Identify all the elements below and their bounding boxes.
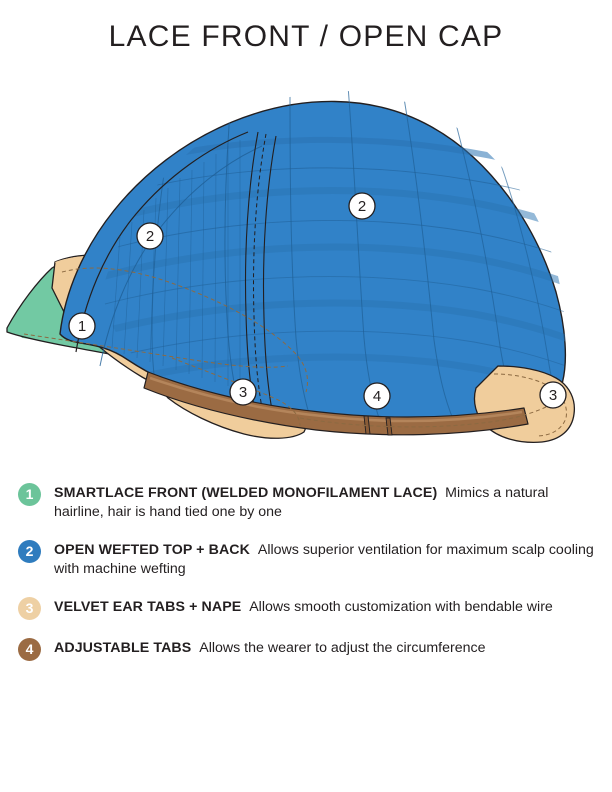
legend-item-1: 1 SMARTLACE FRONT (WELDED MONOFILAMENT L…	[18, 482, 596, 522]
marker-2a-label: 2	[146, 228, 154, 245]
legend-text-2: OPEN WEFTED TOP + BACK Allows superior v…	[54, 539, 596, 579]
legend-text-4: ADJUSTABLE TABS Allows the wearer to adj…	[54, 637, 596, 658]
legend: 1 SMARTLACE FRONT (WELDED MONOFILAMENT L…	[18, 482, 596, 678]
legend-item-2: 2 OPEN WEFTED TOP + BACK Allows superior…	[18, 539, 596, 579]
legend-badge-3: 3	[18, 597, 41, 620]
marker-1-label: 1	[78, 318, 86, 335]
page-root: LACE FRONT / OPEN CAP	[0, 0, 612, 792]
legend-term-3: VELVET EAR TABS + NAPE	[54, 599, 241, 615]
legend-term-2: OPEN WEFTED TOP + BACK	[54, 542, 250, 558]
legend-term-4: ADJUSTABLE TABS	[54, 640, 191, 656]
marker-3a-label: 3	[239, 384, 247, 401]
wig-cap-diagram: 1 2 2 3 3 4	[0, 66, 612, 446]
diagram-marker-2-top: 2	[137, 223, 163, 249]
legend-description-3: Allows smooth customization with bendabl…	[249, 599, 553, 615]
legend-badge-1: 1	[18, 483, 41, 506]
legend-badge-2: 2	[18, 540, 41, 563]
legend-item-3: 3 VELVET EAR TABS + NAPE Allows smooth c…	[18, 596, 596, 620]
legend-term-1: SMARTLACE FRONT (WELDED MONOFILAMENT LAC…	[54, 485, 437, 501]
legend-description-4: Allows the wearer to adjust the circumfe…	[199, 640, 485, 656]
legend-text-3: VELVET EAR TABS + NAPE Allows smooth cus…	[54, 596, 596, 617]
marker-2b-label: 2	[358, 198, 366, 215]
diagram-marker-2-back: 2	[349, 193, 375, 219]
legend-badge-4: 4	[18, 638, 41, 661]
diagram-marker-3-ear: 3	[230, 379, 256, 405]
diagram-marker-4: 4	[364, 383, 390, 409]
marker-3b-label: 3	[549, 387, 557, 404]
marker-4-label: 4	[373, 388, 381, 405]
legend-text-1: SMARTLACE FRONT (WELDED MONOFILAMENT LAC…	[54, 482, 596, 522]
legend-item-4: 4 ADJUSTABLE TABS Allows the wearer to a…	[18, 637, 596, 661]
diagram-marker-3-nape: 3	[540, 382, 566, 408]
page-title: LACE FRONT / OPEN CAP	[0, 20, 612, 54]
diagram-marker-1: 1	[69, 313, 95, 339]
